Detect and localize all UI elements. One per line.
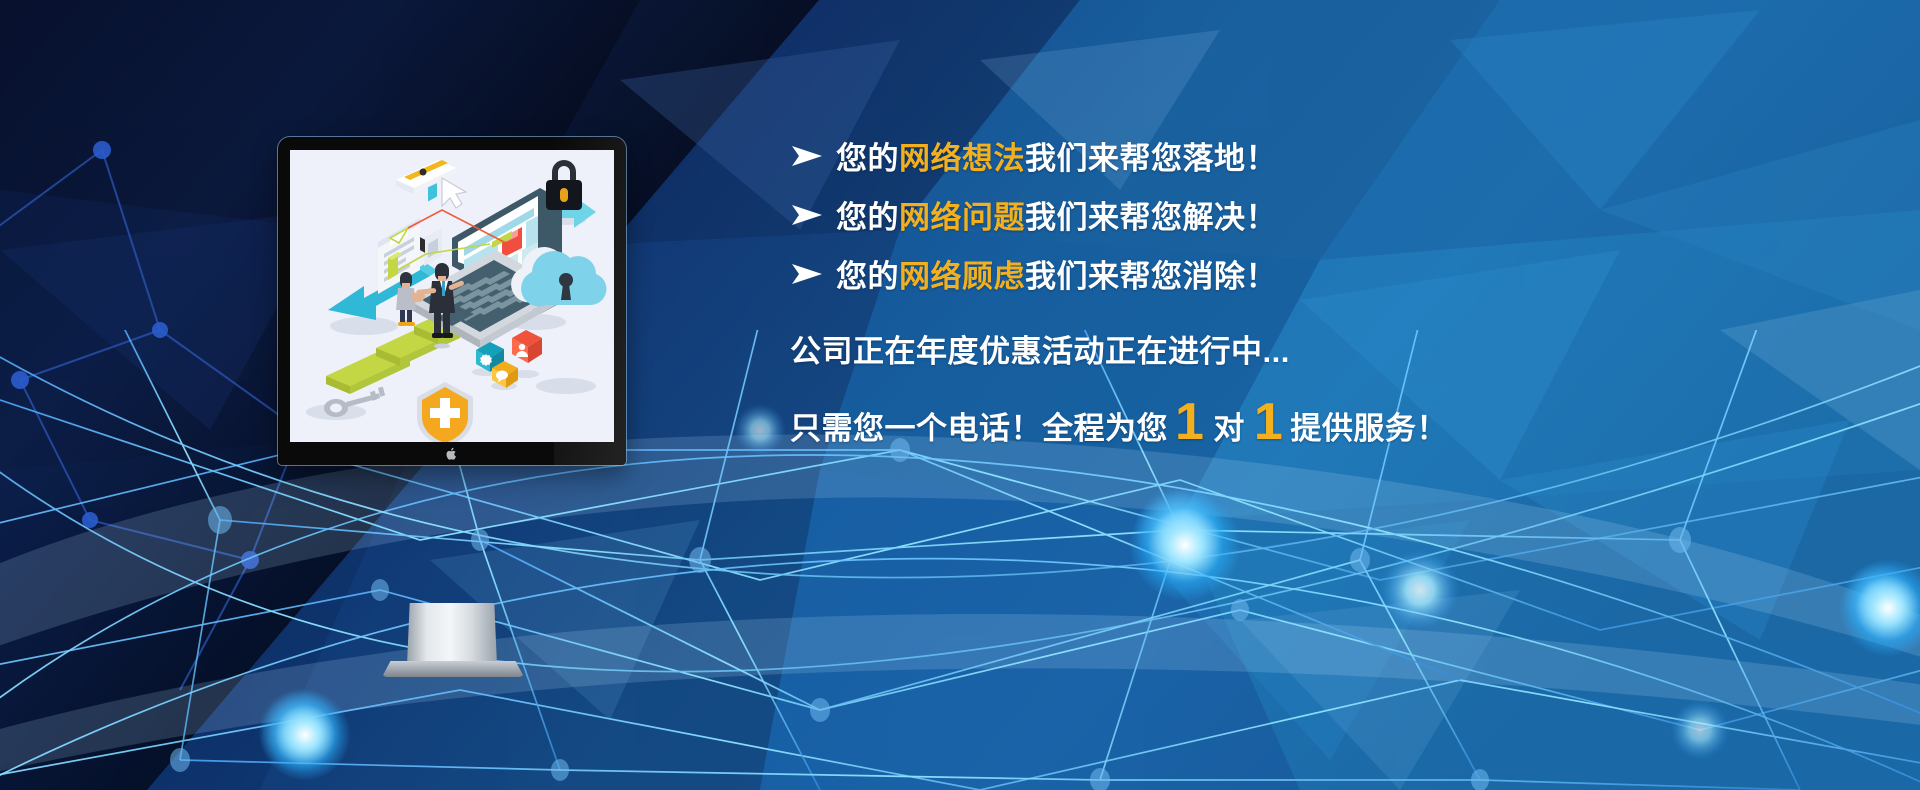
benefit-text: 您的网络顾虑我们来帮您消除！ bbox=[836, 251, 1277, 296]
list-item: 您的网络想法我们来帮您落地！ bbox=[790, 126, 1800, 185]
list-item: 您的网络顾虑我们来帮您消除！ bbox=[790, 244, 1800, 303]
monitor-stand-base bbox=[382, 661, 524, 677]
monitor-stand-neck bbox=[407, 603, 497, 665]
benefit-text: 您的网络想法我们来帮您落地！ bbox=[836, 133, 1277, 178]
cta-number-one-second: 1 bbox=[1247, 399, 1290, 446]
call-to-action-line: 只需您一个电话！全程为您 1 对 1 提供服务！ bbox=[790, 399, 1800, 448]
cta-number-one-first: 1 bbox=[1168, 399, 1211, 446]
promo-line: 公司正在年度优惠活动正在进行中... bbox=[790, 326, 1800, 371]
cta-separator: 对 bbox=[1211, 403, 1247, 448]
marketing-copy: 您的网络想法我们来帮您落地！ 您的网络问题我们来帮您解决！ 您的网络顾虑我们来帮… bbox=[790, 126, 1800, 448]
arrow-right-icon bbox=[790, 263, 836, 285]
benefit-highlight: 网络问题 bbox=[899, 200, 1025, 235]
monitor-screen bbox=[290, 150, 614, 442]
cta-lead: 只需您一个电话！全程为您 bbox=[790, 403, 1168, 448]
benefit-highlight: 网络想法 bbox=[899, 141, 1025, 176]
arrow-right-icon bbox=[790, 145, 836, 167]
benefit-prefix: 您的 bbox=[836, 259, 899, 294]
benefit-prefix: 您的 bbox=[836, 200, 899, 235]
benefit-suffix: 我们来帮您落地！ bbox=[1025, 141, 1277, 176]
apple-logo-icon bbox=[446, 447, 458, 461]
arrow-right-icon bbox=[790, 204, 836, 226]
benefit-list: 您的网络想法我们来帮您落地！ 您的网络问题我们来帮您解决！ 您的网络顾虑我们来帮… bbox=[790, 126, 1800, 303]
benefit-suffix: 我们来帮您解决！ bbox=[1025, 200, 1277, 235]
list-item: 您的网络问题我们来帮您解决！ bbox=[790, 185, 1800, 244]
benefit-suffix: 我们来帮您消除！ bbox=[1025, 259, 1277, 294]
benefit-highlight: 网络顾虑 bbox=[899, 259, 1025, 294]
promo-banner: 您的网络想法我们来帮您落地！ 您的网络问题我们来帮您解决！ 您的网络顾虑我们来帮… bbox=[0, 0, 1920, 790]
cta-tail: 提供服务！ bbox=[1290, 403, 1448, 448]
benefit-text: 您的网络问题我们来帮您解决！ bbox=[836, 192, 1277, 237]
desktop-monitor-illustration bbox=[278, 137, 626, 467]
benefit-prefix: 您的 bbox=[836, 141, 899, 176]
